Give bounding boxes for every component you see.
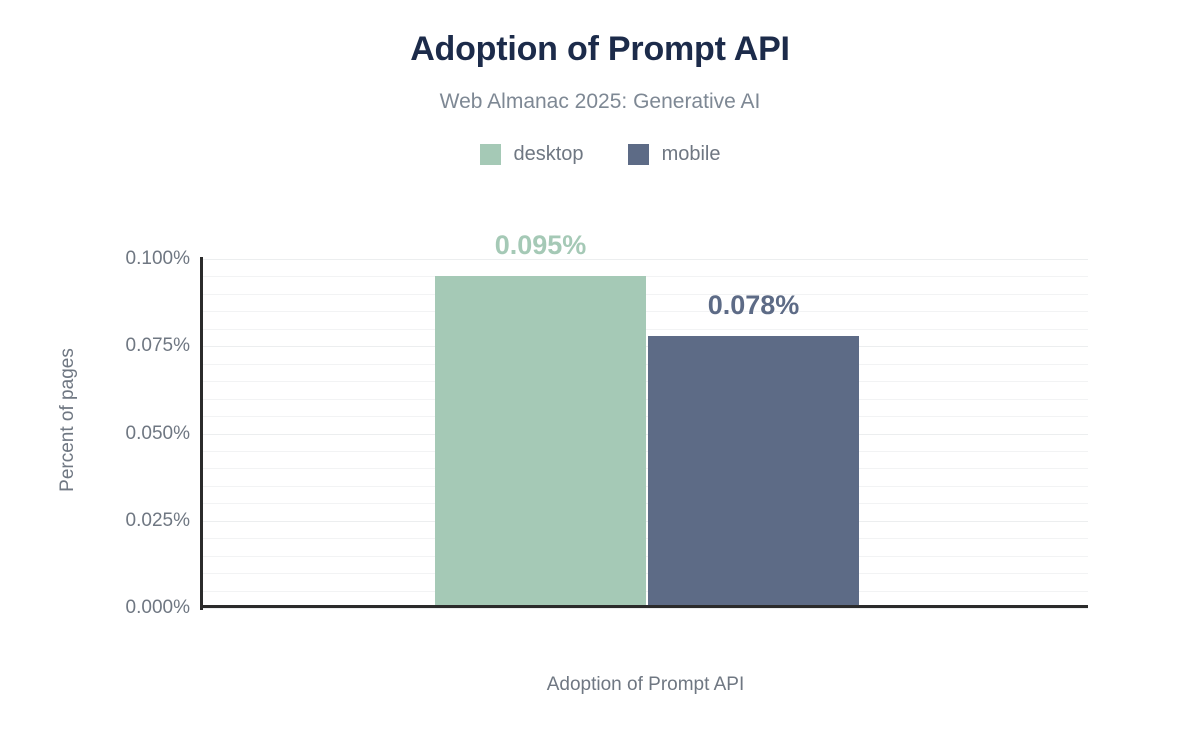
y-axis-tick-label: 0.075% bbox=[50, 335, 190, 357]
y-axis-line bbox=[200, 257, 203, 610]
legend-item-desktop[interactable]: desktop bbox=[480, 143, 584, 166]
bar-desktop[interactable] bbox=[435, 276, 646, 608]
x-axis-title: Adoption of Prompt API bbox=[203, 674, 1088, 696]
y-axis-tick-label: 0.100% bbox=[50, 248, 190, 270]
legend-label-mobile: mobile bbox=[662, 143, 721, 166]
bar-chart: Adoption of Prompt API Web Almanac 2025:… bbox=[0, 0, 1200, 742]
bar-value-label-desktop: 0.095% bbox=[495, 230, 587, 261]
chart-subtitle: Web Almanac 2025: Generative AI bbox=[0, 90, 1200, 114]
gridline-major bbox=[203, 259, 1088, 260]
chart-legend: desktop mobile bbox=[0, 143, 1200, 166]
y-axis-tick-label: 0.050% bbox=[50, 423, 190, 445]
y-axis-tick-label: 0.025% bbox=[50, 510, 190, 532]
chart-title: Adoption of Prompt API bbox=[0, 30, 1200, 69]
legend-swatch-mobile bbox=[628, 144, 649, 165]
legend-label-desktop: desktop bbox=[514, 143, 584, 166]
gridline-major bbox=[203, 608, 1088, 609]
legend-swatch-desktop bbox=[480, 144, 501, 165]
legend-item-mobile[interactable]: mobile bbox=[628, 143, 721, 166]
bar-value-label-mobile: 0.078% bbox=[708, 290, 800, 321]
x-axis-line bbox=[200, 605, 1088, 608]
bar-mobile[interactable] bbox=[648, 336, 859, 608]
plot-area bbox=[203, 259, 1088, 608]
y-axis-tick-label: 0.000% bbox=[50, 597, 190, 619]
